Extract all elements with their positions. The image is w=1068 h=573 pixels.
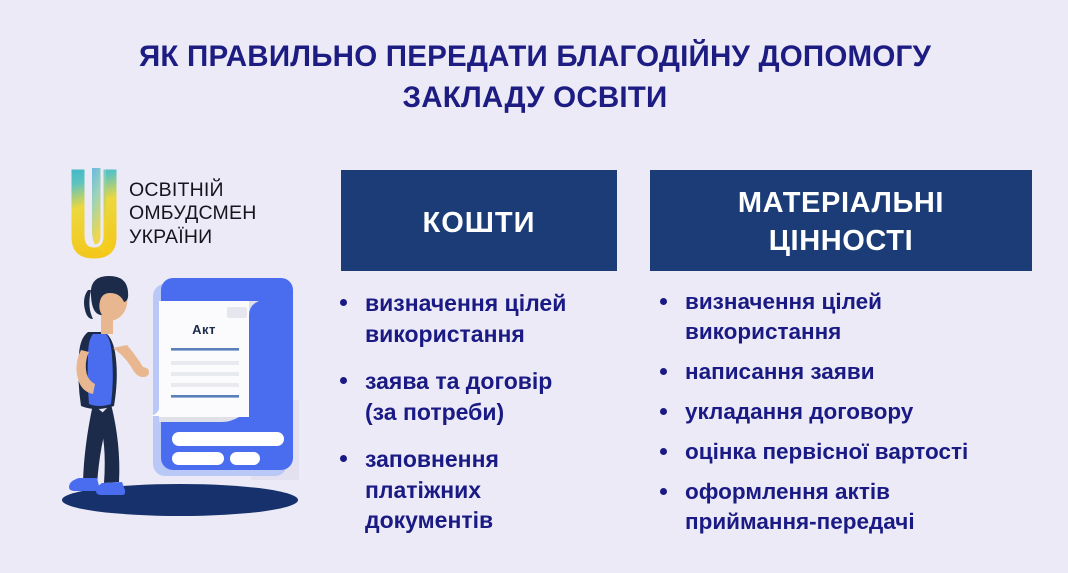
bullet-line: документів — [365, 505, 629, 536]
list-item: визначення цілей використання — [649, 287, 1049, 347]
person-figure — [69, 276, 149, 495]
column-header-goods: МАТЕРІАЛЬНІ ЦІННОСТІ — [650, 170, 1032, 271]
column-header-money-label: КОШТИ — [423, 207, 536, 240]
bullet-line: визначення цілей — [365, 288, 629, 319]
document-rule-2 — [171, 395, 239, 398]
bullet-text: визначення цілей використання — [685, 287, 1049, 347]
infographic-canvas: ЯК ПРАВИЛЬНО ПЕРЕДАТИ БЛАГОДІЙНУ ДОПОМОГ… — [0, 0, 1068, 573]
person-vest — [88, 334, 113, 406]
list-item: заповнення платіжних документів — [329, 444, 629, 536]
document-line-3 — [171, 383, 239, 387]
bullet-line: заповнення — [365, 444, 629, 475]
bullet-text: написання заяви — [685, 357, 1049, 387]
device-bar-3 — [230, 452, 260, 465]
bullet-line: заява та договір — [365, 366, 629, 397]
column-header-goods-line-2: ЦІННОСТІ — [738, 223, 944, 260]
bullet-list-money: визначення цілей використання заява та д… — [329, 288, 629, 553]
column-header-money: КОШТИ — [341, 170, 617, 271]
document-title: Акт — [192, 322, 216, 337]
device-bar-1 — [172, 432, 284, 446]
bullet-text: укладання договору — [685, 397, 1049, 427]
bullet-text: заповнення платіжних документів — [365, 444, 629, 536]
bullet-line: оформлення актів — [685, 477, 1049, 507]
bullet-line: визначення цілей — [685, 287, 1049, 317]
list-item: заява та договір (за потреби) — [329, 366, 629, 427]
list-item: оформлення актів приймання-передачі — [649, 477, 1049, 537]
page-title-line-2: ЗАКЛАДУ ОСВІТИ — [67, 77, 1003, 118]
bullet-text: заява та договір (за потреби) — [365, 366, 629, 427]
logo-line-2: ОМБУДСМЕН — [129, 202, 256, 225]
document-stamp — [227, 307, 247, 318]
bullet-text: визначення цілей використання — [365, 288, 629, 349]
document-line-1 — [171, 361, 239, 365]
person-arm-front — [113, 345, 149, 377]
logo-line-1: ОСВІТНІЙ — [129, 179, 256, 202]
bullet-line: написання заяви — [685, 357, 1049, 387]
device-bar-2 — [172, 452, 224, 465]
list-item: оцінка первісної вартості — [649, 437, 1049, 467]
document-curl-bottom — [159, 417, 239, 422]
logo-wordmark: ОСВІТНІЙ ОМБУДСМЕН УКРАЇНИ — [129, 179, 256, 249]
document-line-2 — [171, 372, 239, 376]
person-shoe-back — [69, 478, 99, 491]
person-shoe-front — [96, 482, 125, 495]
list-item: написання заяви — [649, 357, 1049, 387]
logo: ОСВІТНІЙ ОМБУДСМЕН УКРАЇНИ — [66, 166, 256, 262]
bullet-line: оцінка первісної вартості — [685, 437, 1049, 467]
osvitnii-ombudsmen-mark-icon — [66, 166, 120, 262]
list-item: укладання договору — [649, 397, 1049, 427]
bullet-line: (за потреби) — [365, 397, 629, 428]
bullet-text: оформлення актів приймання-передачі — [685, 477, 1049, 537]
bullet-list-goods: визначення цілей використання написання … — [649, 287, 1049, 546]
column-header-goods-line-1: МАТЕРІАЛЬНІ — [738, 185, 944, 222]
bullet-line: використання — [685, 317, 1049, 347]
document-rule-1 — [171, 348, 239, 351]
bullet-line: укладання договору — [685, 397, 1049, 427]
bullet-text: оцінка первісної вартості — [685, 437, 1049, 467]
list-item: визначення цілей використання — [329, 288, 629, 349]
bullet-line: приймання-передачі — [685, 507, 1049, 537]
page-title: ЯК ПРАВИЛЬНО ПЕРЕДАТИ БЛАГОДІЙНУ ДОПОМОГ… — [67, 36, 1003, 119]
illustration-svg: Акт — [55, 272, 317, 524]
page-title-line-1: ЯК ПРАВИЛЬНО ПЕРЕДАТИ БЛАГОДІЙНУ ДОПОМОГ… — [67, 36, 1003, 77]
document-body — [159, 301, 249, 417]
bullet-line: платіжних — [365, 475, 629, 506]
illustration-woman-reviewing-act: Акт — [55, 272, 317, 524]
bullet-line: використання — [365, 319, 629, 350]
logo-line-3: УКРАЇНИ — [129, 226, 256, 249]
